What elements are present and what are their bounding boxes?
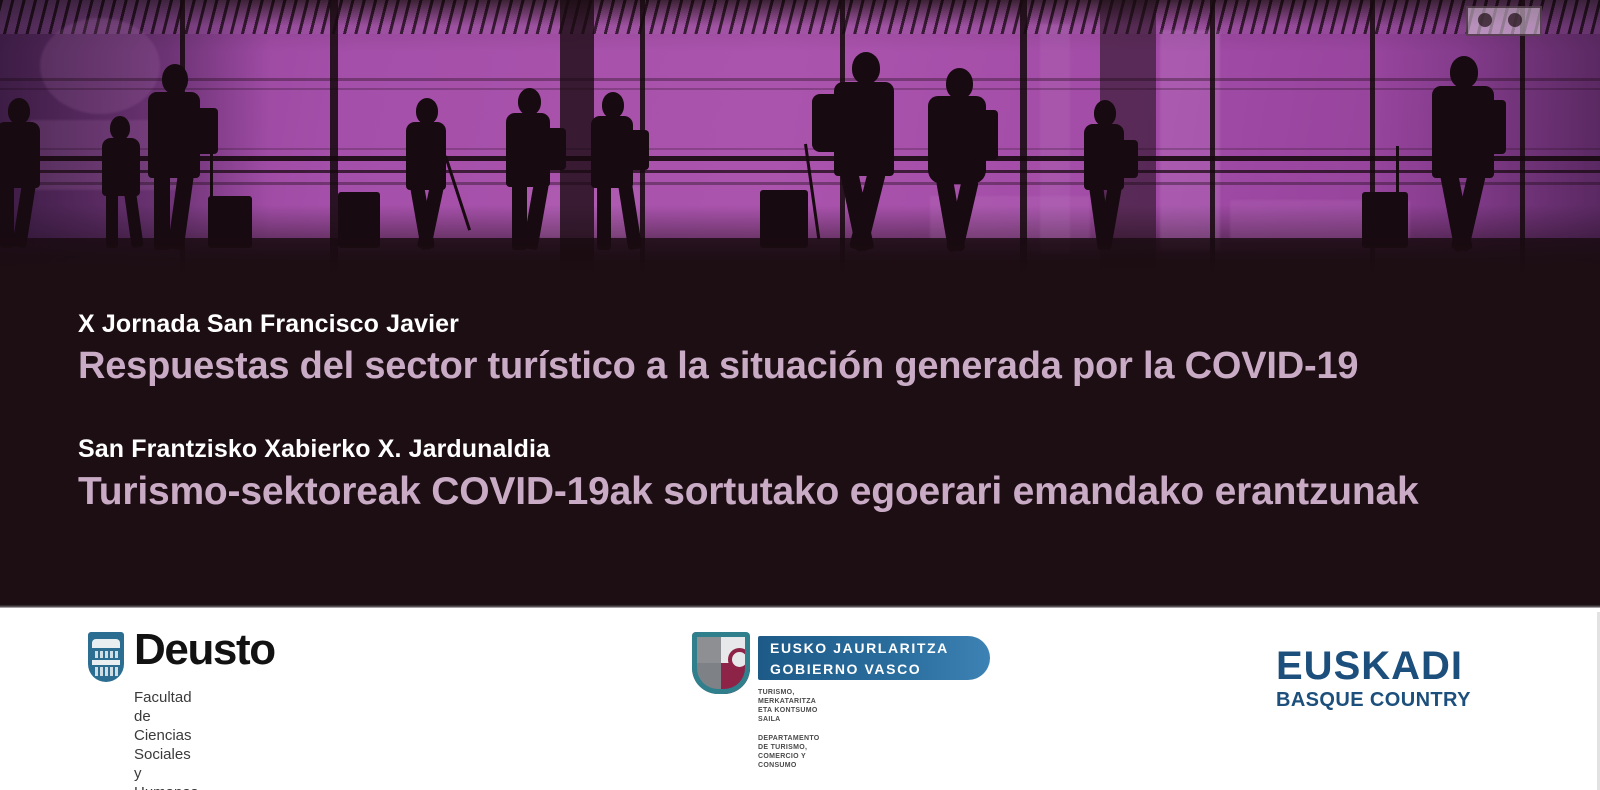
glazing-bar bbox=[0, 88, 1600, 90]
ceiling-slats bbox=[0, 0, 1600, 34]
traveller-silhouette bbox=[586, 92, 654, 250]
traveller-silhouette bbox=[500, 88, 570, 250]
event-poster: X Jornada San Francisco Javier Respuesta… bbox=[0, 0, 1600, 790]
basque-government-department: TURISMO, MERKATARITZA ETA KONTSUMO SAILA… bbox=[758, 688, 820, 770]
department-spanish: DEPARTAMENTO DE TURISMO, COMERCIO Y CONS… bbox=[758, 734, 820, 770]
logo-euskadi-basque-country: EUSKADI BASQUE COUNTRY bbox=[1276, 646, 1471, 712]
banner-line-spanish: GOBIERNO VASCO bbox=[758, 659, 990, 680]
traveller-silhouette bbox=[400, 98, 468, 250]
handrail-lower bbox=[0, 170, 1600, 173]
deusto-faculty-line-1: Facultad de Ciencias Sociales bbox=[134, 688, 204, 764]
basque-country-subtitle: BASQUE COUNTRY bbox=[1276, 688, 1471, 712]
window-mullion bbox=[1210, 0, 1215, 278]
exit-sign-icon bbox=[1466, 6, 1542, 36]
hero-photo-airport-walkway bbox=[0, 0, 1600, 278]
spanish-event-headline: Respuestas del sector turístico a la sit… bbox=[78, 345, 1538, 388]
basque-event-headline: Turismo-sektoreak COVID-19ak sortutako e… bbox=[78, 470, 1538, 514]
euskadi-wordmark: EUSKADI bbox=[1276, 646, 1471, 686]
traveller-silhouette bbox=[1420, 56, 1528, 252]
traveller-silhouette bbox=[818, 52, 928, 252]
spanish-event-kicker: X Jornada San Francisco Javier bbox=[78, 310, 1538, 339]
deusto-faculty-line-2: y Humanas bbox=[134, 764, 204, 790]
window-mullion bbox=[1020, 0, 1027, 278]
department-basque: TURISMO, MERKATARITZA ETA KONTSUMO SAILA bbox=[758, 689, 818, 723]
basque-government-banner: EUSKO JAURLARITZA GOBIERNO VASCO bbox=[758, 636, 990, 680]
basque-event-kicker: San Frantzisko Xabierko X. Jardunaldia bbox=[78, 435, 1538, 464]
basque-title-block: San Frantzisko Xabierko X. Jardunaldia T… bbox=[78, 435, 1538, 513]
banner-line-basque: EUSKO JAURLARITZA bbox=[758, 636, 990, 659]
traveller-silhouette bbox=[1078, 100, 1144, 250]
traveller-silhouette bbox=[916, 68, 1016, 252]
handrail-lower bbox=[0, 182, 1600, 185]
handrail bbox=[0, 156, 1600, 161]
glazing-bar bbox=[0, 148, 1600, 150]
deusto-faculty-lines: Facultad de Ciencias Sociales y Humanas … bbox=[134, 688, 204, 790]
floor-shadow bbox=[0, 238, 1600, 278]
window-mullion bbox=[330, 0, 338, 278]
spanish-title-block: X Jornada San Francisco Javier Respuesta… bbox=[78, 310, 1538, 387]
deusto-wordmark: Deusto bbox=[134, 628, 275, 672]
glazing-bar bbox=[0, 78, 1600, 81]
basque-government-coat-of-arms-icon bbox=[692, 632, 750, 694]
traveller-silhouette bbox=[0, 98, 60, 248]
title-group: X Jornada San Francisco Javier Respuesta… bbox=[78, 310, 1538, 514]
deusto-shield-crest-icon bbox=[88, 632, 124, 682]
